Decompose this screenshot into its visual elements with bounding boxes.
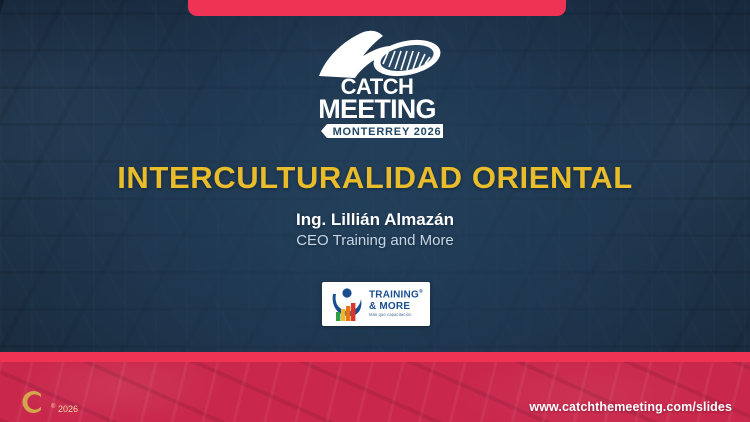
logo-line-3: MEETING	[318, 94, 435, 124]
brand-year-text: 2026	[58, 404, 78, 414]
sponsor-logo-training-and-more: TRAINING® & MORE Más que capacitación	[322, 282, 430, 326]
sponsor-figure-icon	[327, 285, 367, 323]
top-accent-tab	[188, 0, 566, 16]
speaker-name: Ing. Lillián Almazán	[0, 210, 750, 230]
sponsor-tagline: Más que capacitación	[369, 313, 423, 317]
sponsor-name-line-1: TRAINING®	[369, 290, 423, 300]
speaker-role: CEO Training and More	[0, 232, 750, 249]
sponsor-name-line-2: & MORE	[369, 302, 423, 312]
brand-registered-mark: ®	[51, 404, 55, 410]
presentation-slide: CATCH MEETING MONTERREY 2026 INTERCULTUR…	[0, 0, 750, 422]
website-url: www.catchthemeeting.com/slides	[529, 400, 732, 414]
page-title: INTERCULTURALIDAD ORIENTAL	[0, 160, 750, 196]
brand-c-mark: ® 2026	[16, 386, 78, 418]
logo-location-year: MONTERREY 2026	[333, 126, 442, 138]
pink-divider-stripe	[0, 352, 750, 362]
sponsor-name-text: TRAINING	[369, 290, 419, 301]
registered-mark: ®	[419, 289, 423, 295]
brand-year: ® 2026	[51, 404, 78, 414]
c-logo-icon	[16, 386, 48, 418]
catch-the-meeting-logo: CATCH MEETING MONTERREY 2026	[303, 24, 451, 140]
